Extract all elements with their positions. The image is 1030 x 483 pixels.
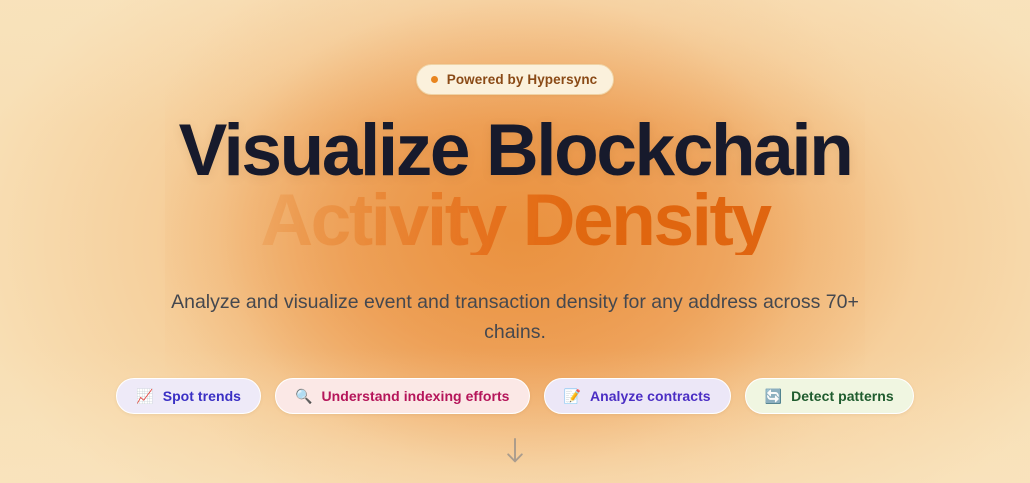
page-title: Visualize Blockchain Activity Density xyxy=(179,95,852,255)
powered-by-badge: Powered by Hypersync xyxy=(416,64,615,95)
hero-subtitle: Analyze and visualize event and transact… xyxy=(165,287,865,347)
scroll-down-button[interactable] xyxy=(502,436,528,466)
pill-analyze-contracts[interactable]: 📝 Analyze contracts xyxy=(544,378,731,414)
pill-detect-patterns-label: Detect patterns xyxy=(791,388,894,404)
magnifying-glass-icon: 🔍 xyxy=(295,389,312,403)
pill-analyze-contracts-label: Analyze contracts xyxy=(590,388,711,404)
hero-section: Powered by Hypersync Visualize Blockchai… xyxy=(0,0,1030,483)
chart-increasing-icon: 📈 xyxy=(136,389,153,403)
headline-line-one: Visualize Blockchain xyxy=(179,117,852,185)
arrow-down-icon xyxy=(506,438,524,464)
pill-understand-indexing-efforts[interactable]: 🔍 Understand indexing efforts xyxy=(275,378,529,414)
feature-pill-list: 📈 Spot trends 🔍 Understand indexing effo… xyxy=(116,378,913,414)
pill-understand-indexing-efforts-label: Understand indexing efforts xyxy=(321,388,509,404)
pill-detect-patterns[interactable]: 🔄 Detect patterns xyxy=(745,378,914,414)
pill-spot-trends-label: Spot trends xyxy=(163,388,241,404)
headline-line-two: Activity Density xyxy=(179,187,852,255)
powered-by-badge-label: Powered by Hypersync xyxy=(447,72,598,87)
memo-icon: 📝 xyxy=(564,389,581,403)
pill-spot-trends[interactable]: 📈 Spot trends xyxy=(116,378,261,414)
hero-content: Powered by Hypersync Visualize Blockchai… xyxy=(0,0,1030,483)
dot-icon xyxy=(431,76,438,83)
counterclockwise-arrows-icon: 🔄 xyxy=(765,389,782,403)
